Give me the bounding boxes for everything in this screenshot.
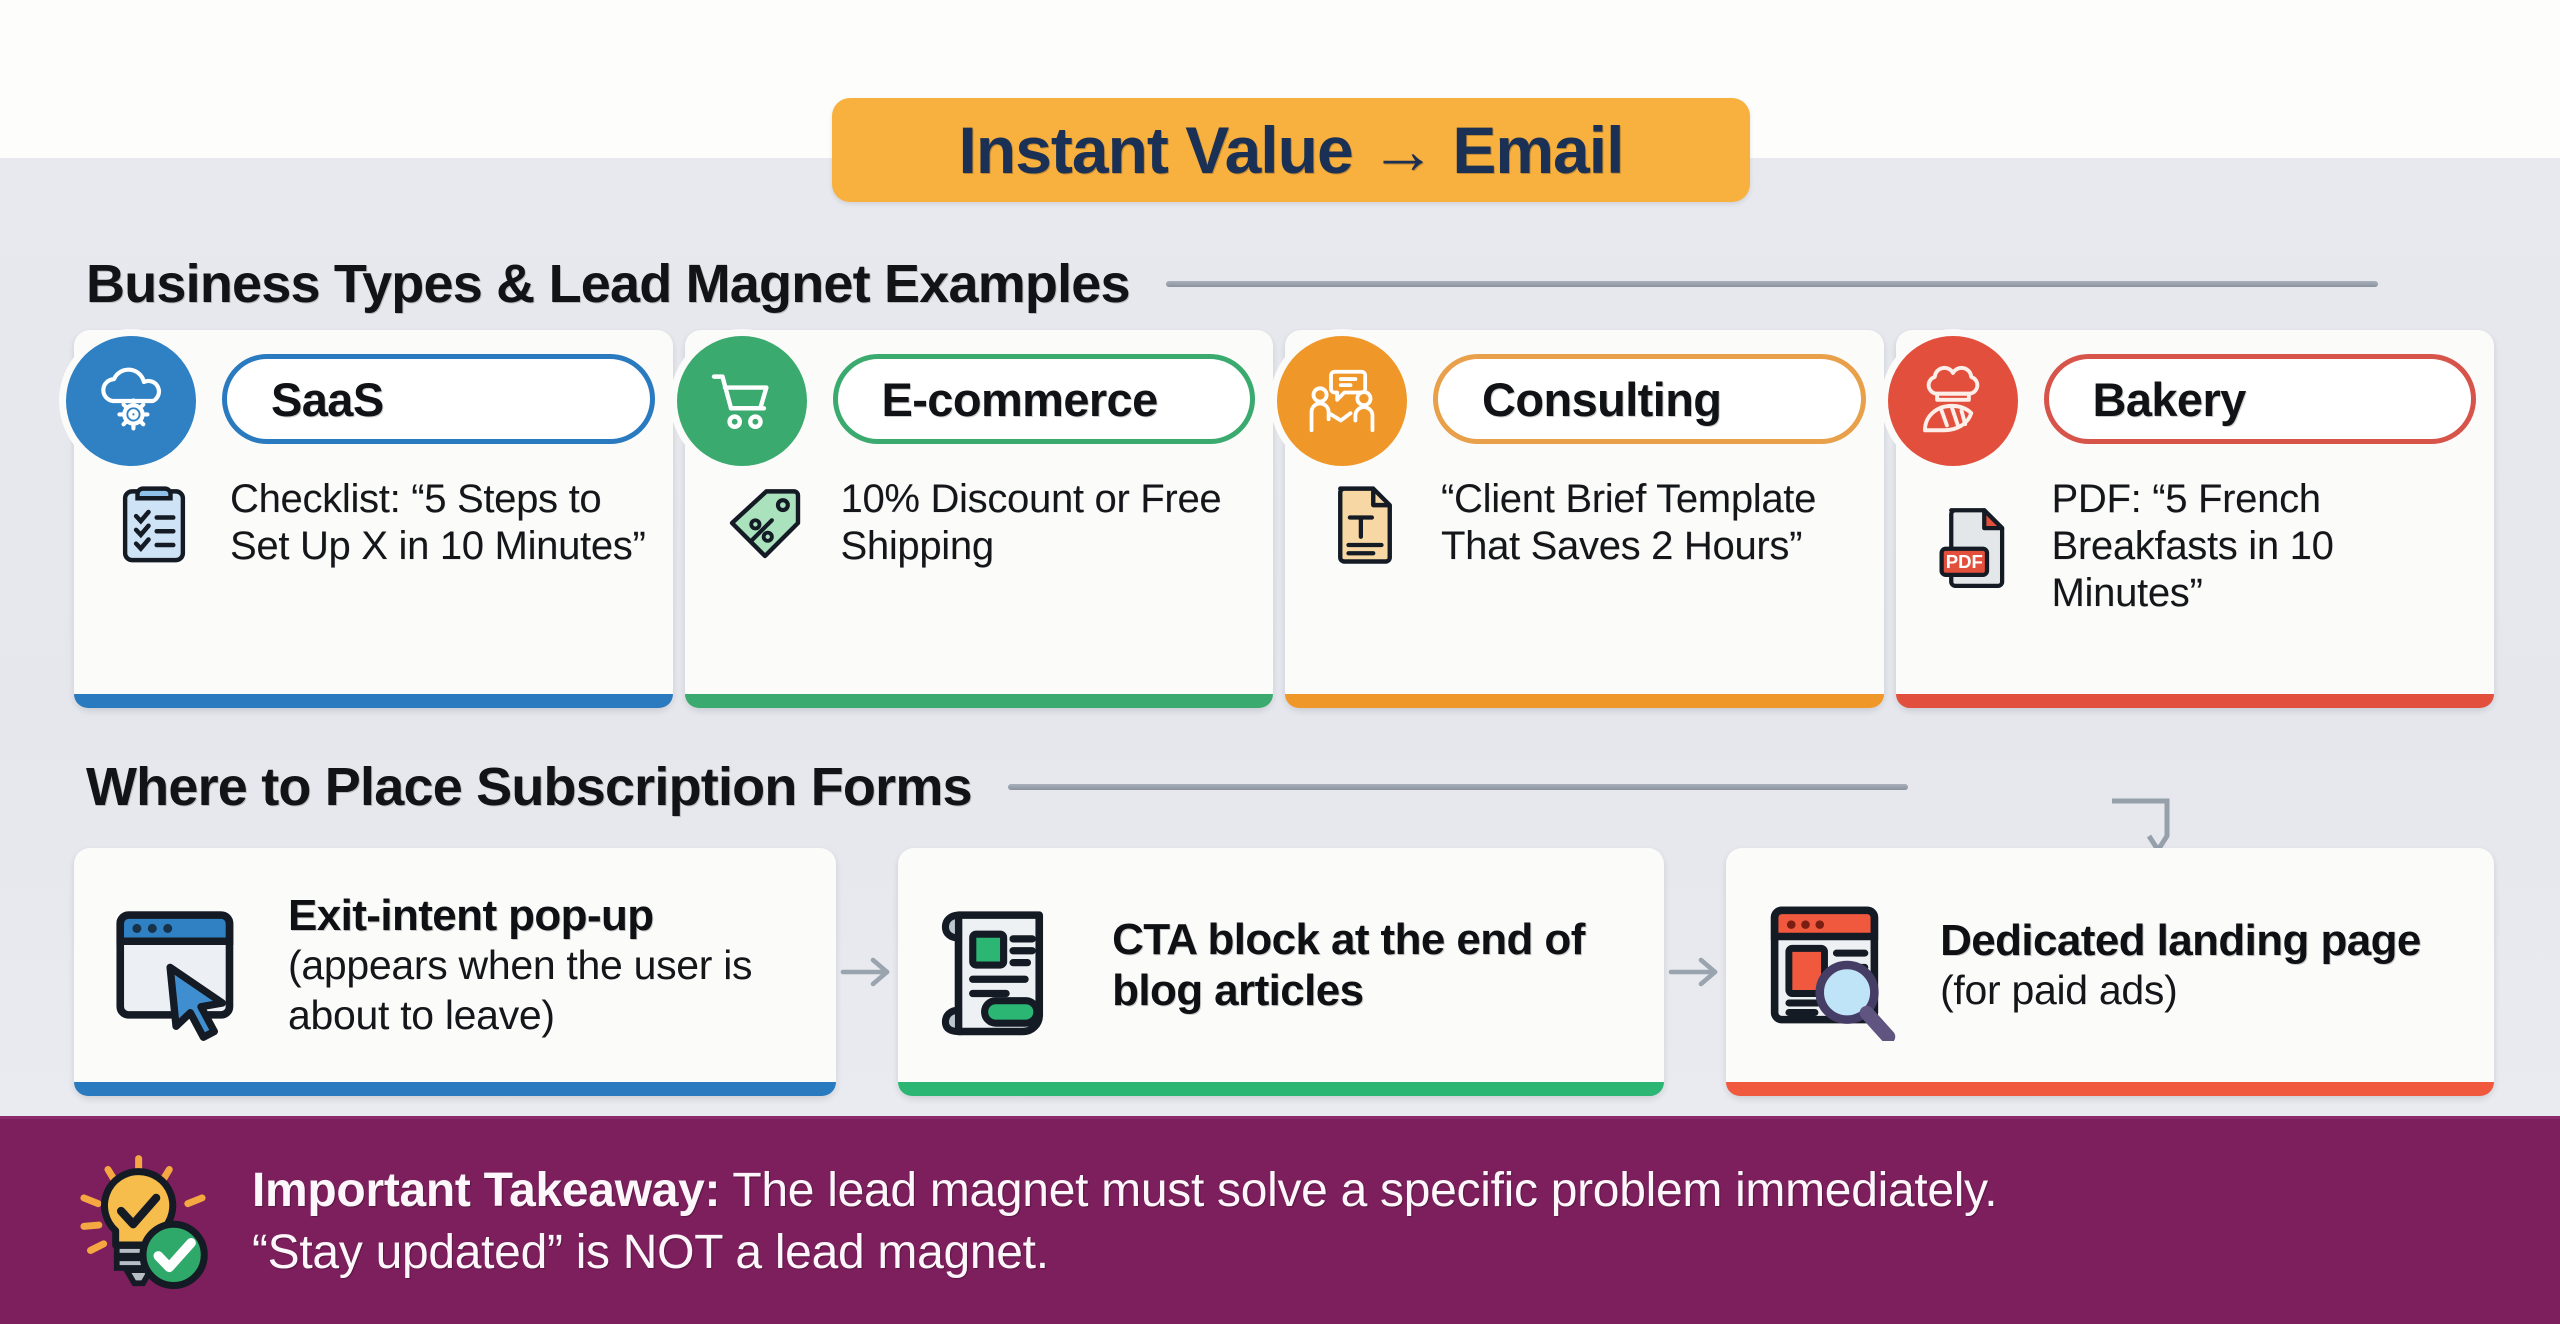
business-name-label: SaaS xyxy=(271,372,384,427)
placement-title: Dedicated landing page xyxy=(1940,915,2421,966)
business-name-pill: Consulting xyxy=(1433,354,1866,444)
lead-magnet-text: 10% Discount or Free Shipping xyxy=(841,476,1254,570)
card-body-row: PDF PDF: “5 French Breakfasts in 10 Minu… xyxy=(1896,462,2495,616)
takeaway-label: Important Takeaway: xyxy=(252,1164,720,1217)
placement-card-exit-intent[interactable]: Exit-intent pop-up (appears when the use… xyxy=(74,848,836,1096)
takeaway-banner: Important Takeaway: The lead magnet must… xyxy=(0,1116,2560,1324)
business-card-consulting[interactable]: Consulting “Client Brief Template That S… xyxy=(1285,330,1884,708)
section-heading-business-types: Business Types & Lead Magnet Examples xyxy=(86,253,2378,315)
card-header-row: SaaS xyxy=(74,330,673,462)
page-title-badge: Instant Value → Email xyxy=(832,98,1750,202)
flow-arrow-2-icon xyxy=(1664,948,1726,996)
lead-magnet-text: PDF: “5 French Breakfasts in 10 Minutes” xyxy=(2052,476,2475,616)
card-accent-bar xyxy=(1726,1082,2494,1096)
article-scroll-cta-icon xyxy=(924,889,1088,1041)
infographic-canvas: Instant Value → Email Business Types & L… xyxy=(0,0,2560,1324)
card-body-row: “Client Brief Template That Saves 2 Hour… xyxy=(1285,462,1884,570)
card-accent-bar xyxy=(74,1082,836,1096)
business-name-pill: E-commerce xyxy=(833,354,1256,444)
browser-window-cursor-icon xyxy=(100,889,264,1041)
business-name-pill: SaaS xyxy=(222,354,655,444)
flow-arrow-1-icon xyxy=(836,948,898,996)
placement-subtitle: (appears when the user is about to leave… xyxy=(288,941,818,1039)
business-name-pill: Bakery xyxy=(2044,354,2477,444)
business-name-label: Bakery xyxy=(2093,372,2246,427)
card-header-row: Bakery xyxy=(1896,330,2495,462)
placement-card-landing-page[interactable]: Dedicated landing page (for paid ads) xyxy=(1726,848,2494,1096)
business-card-bakery[interactable]: Bakery PDF PDF: “5 French Breakfasts in … xyxy=(1896,330,2495,708)
business-cards-row: SaaS Checklist: “5 Steps to Set xyxy=(74,330,2494,708)
text-document-icon xyxy=(1311,479,1419,567)
card-body-row: 10% Discount or Free Shipping xyxy=(685,462,1274,570)
placement-card-text: Dedicated landing page (for paid ads) xyxy=(1940,915,2421,1015)
section-heading-placement: Where to Place Subscription Forms xyxy=(86,756,1908,818)
section-heading-business-types-label: Business Types & Lead Magnet Examples xyxy=(86,253,1130,315)
landing-page-magnifier-icon xyxy=(1752,889,1916,1041)
card-accent-bar xyxy=(685,694,1274,708)
clipboard-checklist-icon xyxy=(100,479,208,567)
card-header-row: E-commerce xyxy=(685,330,1274,462)
cloud-gear-icon xyxy=(66,336,196,466)
section-heading-placement-label: Where to Place Subscription Forms xyxy=(86,756,972,818)
pdf-file-icon: PDF xyxy=(1922,502,2030,590)
placement-card-cta-block[interactable]: CTA block at the end of blog articles xyxy=(898,848,1664,1096)
placement-card-text: Exit-intent pop-up (appears when the use… xyxy=(288,890,818,1039)
card-accent-bar xyxy=(898,1082,1664,1096)
lead-magnet-text: “Client Brief Template That Saves 2 Hour… xyxy=(1441,476,1864,570)
card-accent-bar xyxy=(74,694,673,708)
takeaway-line1: The lead magnet must solve a specific pr… xyxy=(720,1164,1997,1217)
business-name-label: E-commerce xyxy=(882,372,1158,427)
business-card-saas[interactable]: SaaS Checklist: “5 Steps to Set xyxy=(74,330,673,708)
placement-title: Exit-intent pop-up xyxy=(288,890,818,941)
svg-text:PDF: PDF xyxy=(1945,551,1982,572)
people-chat-icon xyxy=(1277,336,1407,466)
chef-hat-croissant-icon xyxy=(1888,336,2018,466)
business-card-ecommerce[interactable]: E-commerce 10% Discount or Free Shipping xyxy=(685,330,1274,708)
takeaway-text: Important Takeaway: The lead magnet must… xyxy=(252,1160,1997,1283)
card-accent-bar xyxy=(1896,694,2495,708)
placement-card-text: CTA block at the end of blog articles xyxy=(1112,914,1646,1016)
price-tag-percent-icon xyxy=(711,479,819,567)
lead-magnet-text: Checklist: “5 Steps to Set Up X in 10 Mi… xyxy=(230,476,653,570)
placement-subtitle: (for paid ads) xyxy=(1940,966,2421,1015)
card-header-row: Consulting xyxy=(1285,330,1884,462)
section-divider-line xyxy=(1166,281,2378,287)
section-divider-line xyxy=(1008,784,1908,790)
business-name-label: Consulting xyxy=(1482,372,1721,427)
shopping-cart-icon xyxy=(677,336,807,466)
card-body-row: Checklist: “5 Steps to Set Up X in 10 Mi… xyxy=(74,462,673,570)
page-title: Instant Value → Email xyxy=(959,112,1624,188)
lightbulb-check-icon xyxy=(68,1152,218,1292)
takeaway-line2: “Stay updated” is NOT a lead magnet. xyxy=(252,1222,1997,1283)
placement-flow-row: Exit-intent pop-up (appears when the use… xyxy=(74,848,2494,1096)
card-accent-bar xyxy=(1285,694,1884,708)
placement-title: CTA block at the end of blog articles xyxy=(1112,914,1646,1016)
